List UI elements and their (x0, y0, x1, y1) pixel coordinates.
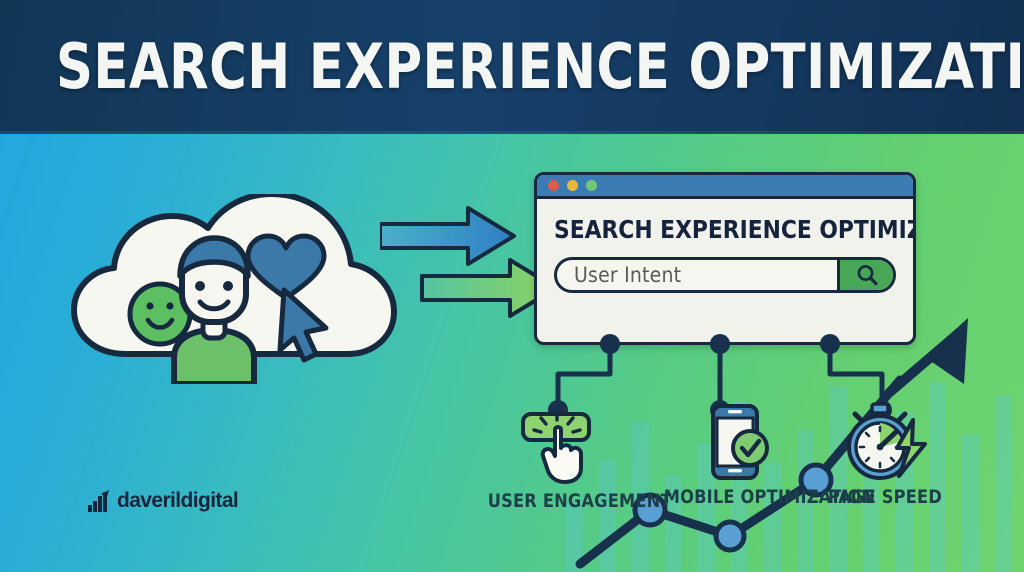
maximize-dot[interactable] (586, 180, 597, 191)
click-button-icon (484, 410, 634, 486)
search-button[interactable] (837, 260, 893, 290)
browser-content: SEARCH EXPERIENCE OPTIMIZATION User Inte… (537, 199, 913, 293)
user-experience-cloud (64, 194, 404, 384)
feature-label: PAGE SPEED (814, 486, 957, 508)
search-bar[interactable]: User Intent (554, 257, 896, 293)
browser-heading: SEARCH EXPERIENCE OPTIMIZATION (554, 215, 886, 244)
connector-left (558, 344, 610, 408)
browser-titlebar (537, 175, 913, 199)
connector-right (830, 344, 882, 408)
feature-label: USER ENGAGEMENT (488, 490, 631, 512)
person-avatar (174, 238, 254, 384)
feature-label: MOBILE OPTIMIZATION (664, 486, 807, 508)
stopwatch-bolt-icon (810, 406, 960, 482)
main-illustration-area: SEARCH EXPERIENCE OPTIMIZATION User Inte… (0, 134, 1024, 572)
header-banner: SEARCH EXPERIENCE OPTIMIZATION (SXO) (0, 0, 1024, 134)
bar-chart-logo-icon (88, 490, 112, 512)
arrow-flow-top (380, 208, 514, 264)
page-title: SEARCH EXPERIENCE OPTIMIZATION (SXO) (56, 36, 1024, 98)
close-dot[interactable] (548, 180, 559, 191)
minimize-dot[interactable] (567, 180, 578, 191)
logo-text: daverildigital (117, 489, 238, 513)
arrow-flow-bottom (422, 260, 550, 316)
infographic-canvas: SEARCH EXPERIENCE OPTIMIZATION (SXO) (0, 0, 1024, 572)
search-icon (855, 263, 879, 287)
search-input[interactable]: User Intent (557, 263, 837, 287)
feature-user-engagement[interactable]: USER ENGAGEMENT (484, 410, 634, 512)
flow-arrows (380, 194, 550, 344)
mobile-check-icon (660, 406, 810, 482)
browser-window: SEARCH EXPERIENCE OPTIMIZATION User Inte… (534, 172, 916, 345)
feature-mobile-optimization[interactable]: MOBILE OPTIMIZATION (660, 406, 810, 508)
feature-page-speed[interactable]: PAGE SPEED (810, 406, 960, 508)
brand-logo[interactable]: daverildigital (88, 489, 238, 513)
